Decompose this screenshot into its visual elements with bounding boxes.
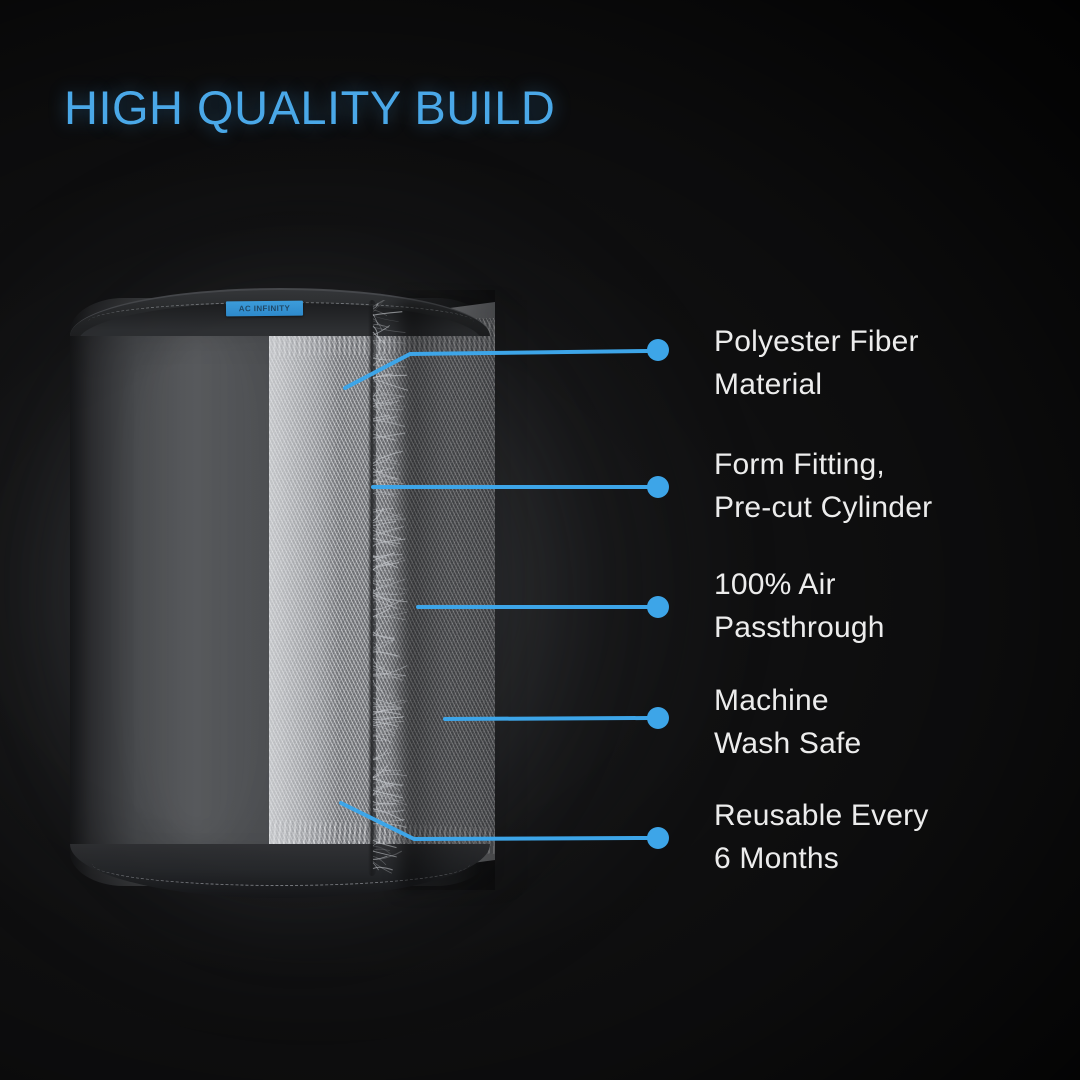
callout-label-polyester-fiber-material: Polyester Fiber Material — [714, 320, 919, 406]
callout-label-air-passthrough: 100% Air Passthrough — [714, 563, 885, 649]
callout-dot-form-fitting-pre-cut-cylinder — [647, 476, 669, 498]
callout-dot-air-passthrough — [647, 596, 669, 618]
callout-label-reusable-every-6-months: Reusable Every 6 Months — [714, 794, 929, 880]
brand-tag: AC INFINITY — [226, 301, 303, 317]
infographic-canvas: AC INFINITY HIGH QUALITY BUILD Polyester… — [0, 0, 1080, 1080]
brand-tag-label: AC INFINITY — [239, 304, 291, 314]
cutaway-veil — [269, 290, 339, 890]
callout-dot-machine-wash-safe — [647, 707, 669, 729]
sleeve-sheen — [106, 318, 296, 848]
callout-dot-polyester-fiber-material — [647, 339, 669, 361]
product-drop-shadow — [400, 300, 520, 890]
callout-label-form-fitting-pre-cut-cylinder: Form Fitting, Pre-cut Cylinder — [714, 443, 932, 529]
page-title: HIGH QUALITY BUILD — [64, 80, 555, 135]
callout-label-machine-wash-safe: Machine Wash Safe — [714, 679, 861, 765]
callout-dot-reusable-every-6-months — [647, 827, 669, 849]
fabric-edge-shadow — [368, 300, 376, 876]
